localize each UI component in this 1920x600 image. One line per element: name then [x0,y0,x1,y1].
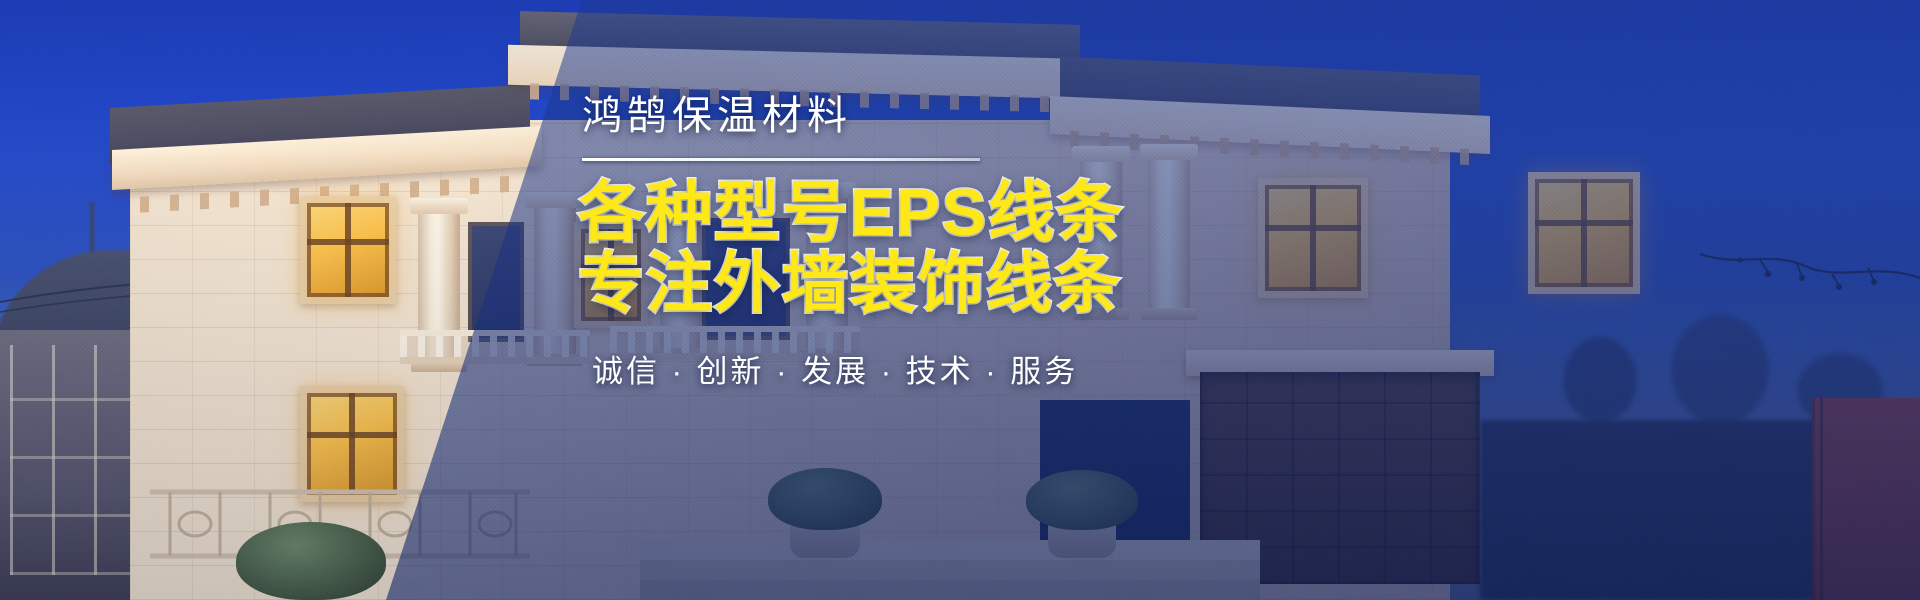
promotional-banner: 鸿鹄保温材料 各种型号EPS线条 专注外墙装饰线条 诚信 · 创新 · 发展 ·… [0,0,1920,600]
divider-rule [582,158,980,161]
headline-line-1: 各种型号EPS线条 [578,177,1338,248]
banner-copy: 鸿鹄保温材料 各种型号EPS线条 专注外墙装饰线条 诚信 · 创新 · 发展 ·… [578,96,1338,391]
headline: 各种型号EPS线条 专注外墙装饰线条 [578,177,1338,320]
brand-name: 鸿鹄保温材料 [582,96,1338,136]
headline-line-2: 专注外墙装饰线条 [578,248,1338,319]
tagline: 诚信 · 创新 · 发展 · 技术 · 服务 [592,346,1338,391]
